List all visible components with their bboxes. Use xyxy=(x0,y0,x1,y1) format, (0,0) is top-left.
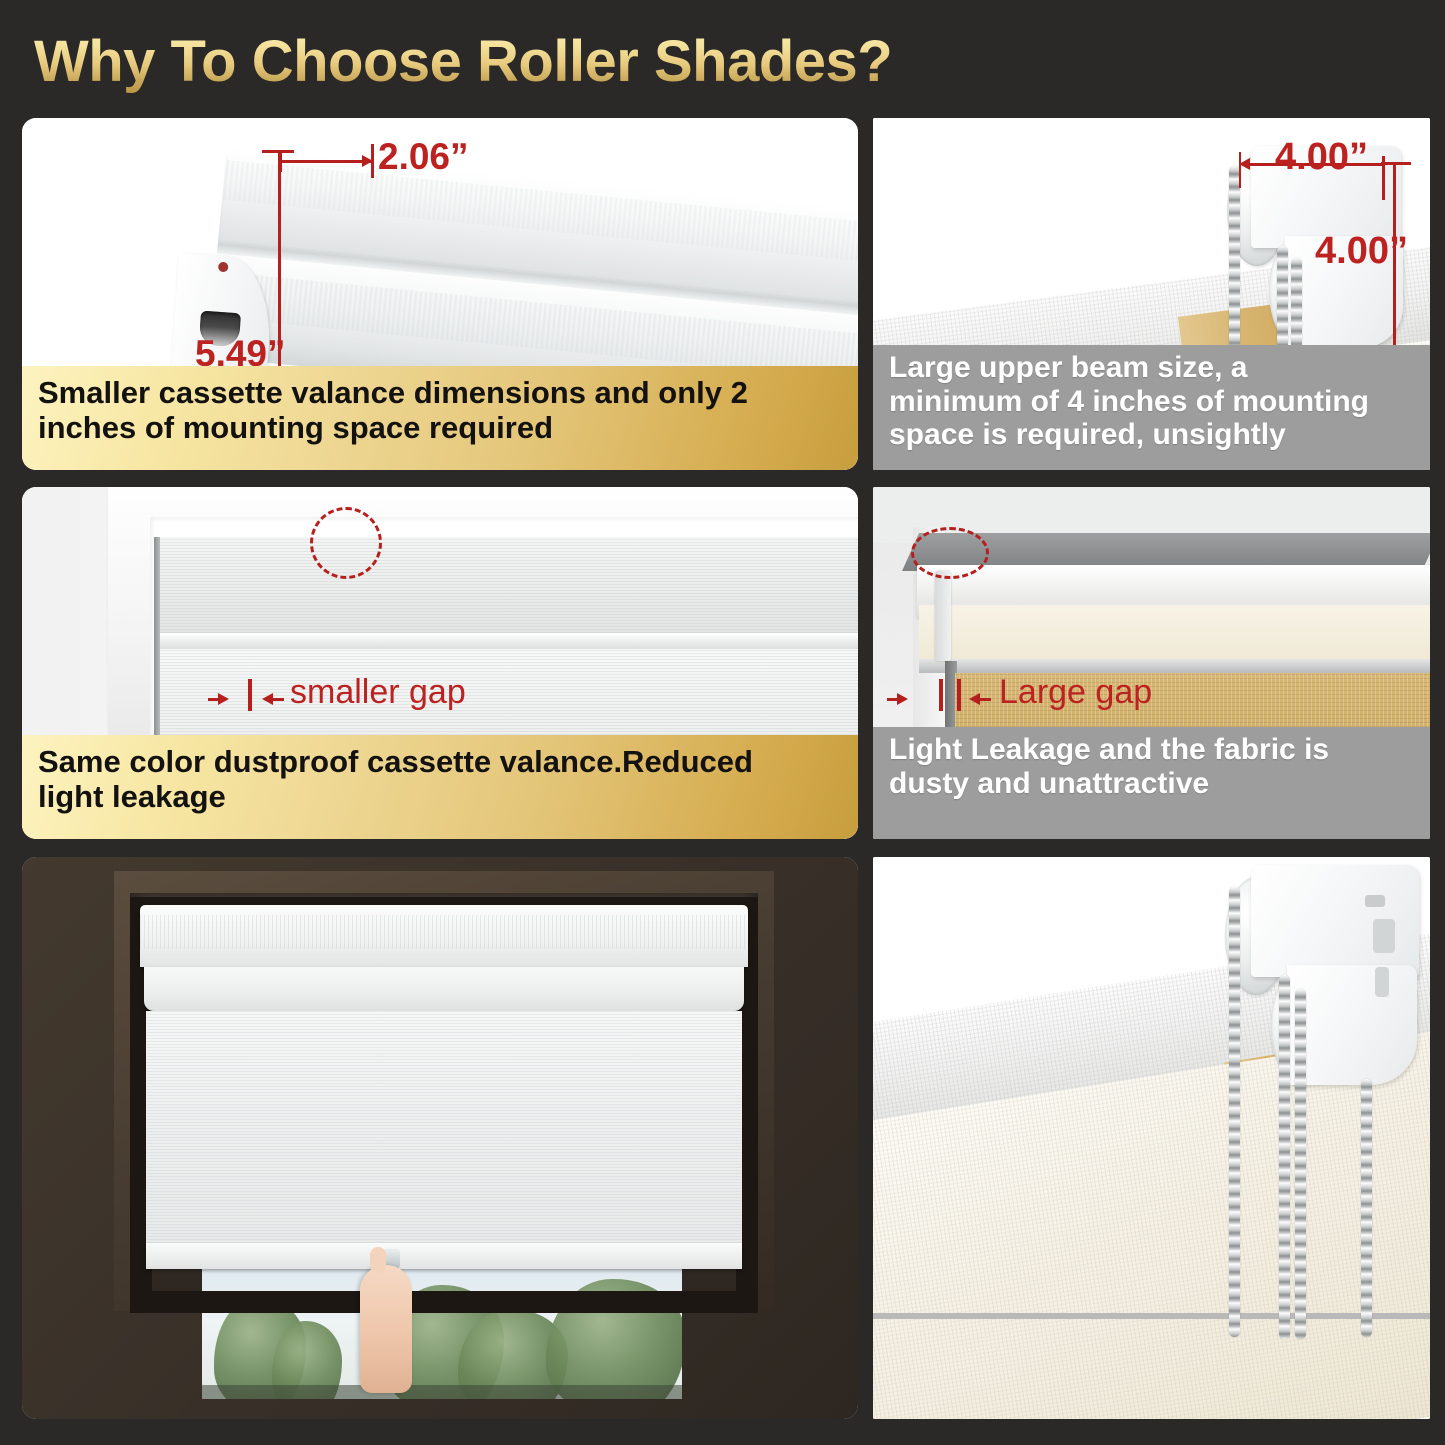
panel-dustproof-valance: smaller gap Same color dustproof cassett… xyxy=(22,487,858,839)
dim2-cap-top xyxy=(1381,162,1411,165)
panel-light-leakage: Large gap Light Leakage and the fabric i… xyxy=(873,487,1430,839)
panel-4-caption: Light Leakage and the fabric is dusty an… xyxy=(873,727,1430,839)
hand-pulling-shade xyxy=(360,1265,412,1393)
mounting-bracket-lower xyxy=(1287,965,1417,1085)
gap-tick-b xyxy=(957,679,961,711)
highlight-circle-icon xyxy=(911,527,989,579)
cassette-valance-front xyxy=(144,967,744,1011)
panel-2-caption: Large upper beam size, a minimum of 4 in… xyxy=(873,345,1430,470)
panel-pulling-beads: Pulling beads are easy to tangle and bre… xyxy=(873,857,1430,1419)
shade-upper-section xyxy=(160,537,858,633)
shade-bottom-rail xyxy=(146,1243,742,1269)
shade-mid-rail xyxy=(160,633,858,649)
bracket-slot-1 xyxy=(1365,895,1385,907)
bracket-slot-3 xyxy=(1375,967,1389,997)
dimension-label-width: 2.06” xyxy=(378,136,469,178)
page-title: Why To Choose Roller Shades? xyxy=(34,28,892,95)
mounting-clip xyxy=(935,571,951,661)
panel-5-photo xyxy=(22,857,858,1419)
panel-3-caption: Same color dustproof cassette valance.Re… xyxy=(22,735,858,839)
gap-callout-label: Large gap xyxy=(999,673,1152,712)
cassette-valance-top xyxy=(140,905,748,967)
dimension-label-beam-width: 4.00” xyxy=(1275,136,1368,179)
panel-1-caption: Smaller cassette valance dimensions and … xyxy=(22,366,858,470)
gap-callout-label: smaller gap xyxy=(290,673,466,712)
silver-rail xyxy=(919,659,1430,673)
cream-band xyxy=(919,605,1430,663)
panel-cordless-design: Free-stop cordless design is safer and m… xyxy=(22,857,858,1419)
dim-line-width xyxy=(280,160,372,163)
bead-chain-1 xyxy=(1229,887,1240,1337)
panel-smaller-cassette: 2.06” 5.49” Smaller cassette valance dim… xyxy=(22,118,858,470)
bead-chain-4 xyxy=(1361,1079,1372,1337)
highlight-circle-icon xyxy=(310,507,382,579)
bead-chain-2 xyxy=(1279,975,1290,1339)
shade-fabric xyxy=(146,1011,742,1243)
page-header: Why To Choose Roller Shades? xyxy=(34,20,1414,102)
panel-6-photo xyxy=(873,857,1430,1419)
dimension-label-beam-height: 4.00” xyxy=(1315,230,1408,273)
panel-large-upper-beam: 4.00” 4.00” Large upper beam size, a min… xyxy=(873,118,1430,470)
bracket-slot-2 xyxy=(1373,919,1395,953)
gap-tick xyxy=(248,679,252,711)
dim-tick-right xyxy=(371,144,374,178)
gap-tick-a xyxy=(939,679,943,711)
dim-cap-top xyxy=(262,150,294,153)
bead-chain-3 xyxy=(1295,989,1306,1339)
